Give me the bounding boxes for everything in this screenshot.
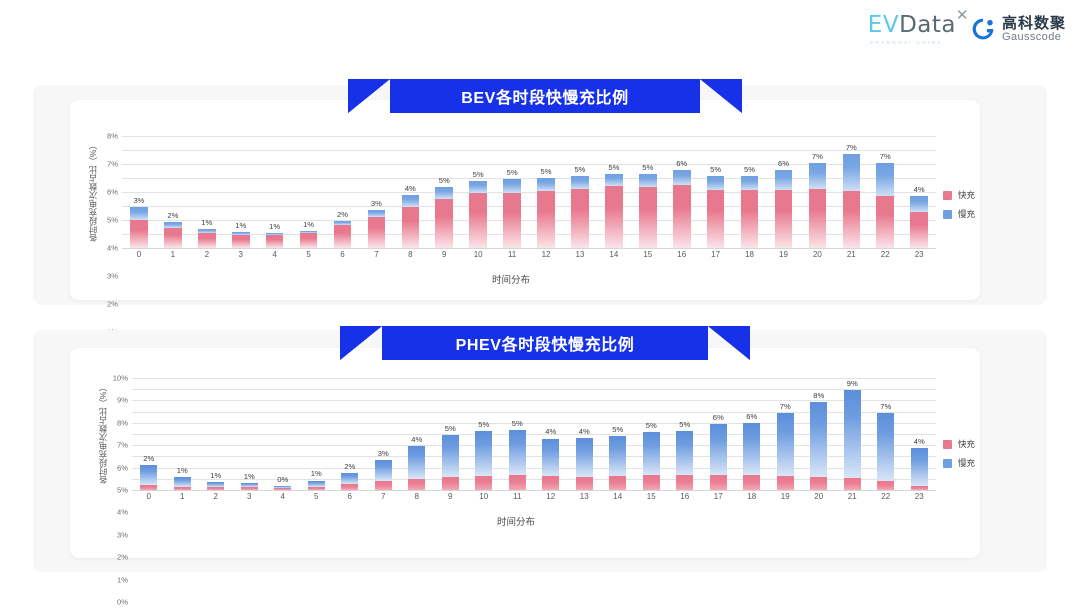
bar-column[interactable]: 4% <box>903 378 937 490</box>
bar-segment-slow-charge <box>571 176 589 189</box>
stacked-bar[interactable]: 5% <box>707 176 725 248</box>
bar-segment-fast-charge <box>232 235 250 248</box>
bar-segment-fast-charge <box>300 233 318 248</box>
bar-segment-slow-charge <box>375 460 392 481</box>
bar-segment-fast-charge <box>707 190 725 248</box>
bar-column[interactable]: 6% <box>665 136 699 248</box>
stacked-bar[interactable]: 4% <box>910 196 928 249</box>
bar-segment-slow-charge <box>676 431 693 476</box>
bar-column[interactable]: 3% <box>359 136 393 248</box>
stacked-bar[interactable]: 6% <box>775 170 793 248</box>
bar-column[interactable]: 5% <box>461 136 495 248</box>
bar-segment-fast-charge <box>809 189 827 248</box>
x-axis-tick-label: 19 <box>769 492 803 501</box>
x-axis-tick-label: 5 <box>300 492 334 501</box>
x-axis-tick-label: 17 <box>699 250 733 259</box>
x-axis-tick-label: 3 <box>233 492 267 501</box>
bar-column[interactable]: 5% <box>563 136 597 248</box>
stacked-bar[interactable]: 2% <box>341 473 358 490</box>
bar-segment-fast-charge <box>475 476 492 490</box>
phev-x-axis-ticks: 01234567891011121314151617181920212223 <box>132 492 936 501</box>
phev-legend: 快充 慢充 <box>943 438 975 469</box>
bar-value-label: 1% <box>210 471 221 480</box>
stacked-bar[interactable]: 3% <box>375 460 392 490</box>
bar-value-label: 0% <box>277 475 288 484</box>
bar-value-label: 1% <box>235 221 246 230</box>
bar-segment-fast-charge <box>207 487 224 490</box>
x-axis-tick-label: 20 <box>800 250 834 259</box>
stacked-bar[interactable]: 1% <box>300 231 318 249</box>
y-axis-tick-label: 7% <box>107 160 118 169</box>
x-axis-tick-label: 12 <box>529 250 563 259</box>
stacked-bar[interactable]: 4% <box>402 195 420 248</box>
bar-segment-slow-charge <box>910 196 928 213</box>
stacked-bar[interactable]: 5% <box>605 174 623 248</box>
stacked-bar[interactable]: 1% <box>308 480 325 490</box>
slow-charge-swatch-icon <box>943 210 952 219</box>
x-axis-tick-label: 5 <box>292 250 326 259</box>
bar-column[interactable]: 7% <box>868 136 902 248</box>
bar-column[interactable]: 6% <box>735 378 769 490</box>
bar-column[interactable]: 5% <box>501 378 535 490</box>
stacked-bar[interactable]: 1% <box>174 477 191 490</box>
bar-value-label: 5% <box>679 420 690 429</box>
bar-column[interactable]: 2% <box>132 378 166 490</box>
bar-column[interactable]: 4% <box>393 136 427 248</box>
stacked-bar[interactable]: 6% <box>743 423 760 490</box>
bar-segment-fast-charge <box>542 476 559 490</box>
bar-column[interactable]: 0% <box>266 378 300 490</box>
bar-segment-slow-charge <box>402 195 420 207</box>
y-axis-tick-label: 0% <box>117 598 128 607</box>
bar-column[interactable]: 4% <box>568 378 602 490</box>
bar-value-label: 5% <box>646 421 657 430</box>
y-axis-tick-label: 8% <box>117 418 128 427</box>
stacked-bar[interactable]: 1% <box>266 233 284 248</box>
bar-column[interactable]: 1% <box>233 378 267 490</box>
bar-value-label: 3% <box>371 199 382 208</box>
bar-segment-fast-charge <box>643 475 660 490</box>
bar-segment-slow-charge <box>844 390 861 478</box>
bar-segment-slow-charge <box>130 207 148 220</box>
x-axis-tick-label: 16 <box>665 250 699 259</box>
stacked-bar[interactable]: 7% <box>843 154 861 248</box>
bar-column[interactable]: 1% <box>224 136 258 248</box>
bar-segment-fast-charge <box>503 193 521 248</box>
stacked-bar[interactable]: 5% <box>537 178 555 248</box>
x-axis-tick-label: 21 <box>836 492 870 501</box>
stacked-bar[interactable]: 9% <box>844 390 861 490</box>
x-axis-tick-label: 13 <box>563 250 597 259</box>
bar-segment-fast-charge <box>775 190 793 248</box>
x-axis-tick-label: 9 <box>434 492 468 501</box>
bar-column[interactable]: 9% <box>836 378 870 490</box>
stacked-bar[interactable]: 5% <box>475 431 492 490</box>
stacked-bar[interactable]: 5% <box>509 430 526 490</box>
bar-value-label: 5% <box>507 168 518 177</box>
bar-column[interactable]: 7% <box>769 378 803 490</box>
y-axis-tick-label: 2% <box>107 300 118 309</box>
bar-segment-slow-charge <box>174 477 191 487</box>
stacked-bar[interactable]: 5% <box>643 432 660 490</box>
bar-segment-fast-charge <box>164 228 182 248</box>
bar-column[interactable]: 2% <box>156 136 190 248</box>
bar-segment-fast-charge <box>910 212 928 248</box>
bar-segment-fast-charge <box>241 487 258 490</box>
x-axis-tick-label: 11 <box>501 492 535 501</box>
stacked-bar[interactable]: 1% <box>207 482 224 490</box>
bar-value-label: 6% <box>713 413 724 422</box>
bar-value-label: 1% <box>201 218 212 227</box>
bar-value-label: 4% <box>914 185 925 194</box>
x-axis-tick-label: 20 <box>802 492 836 501</box>
bar-column[interactable]: 1% <box>166 378 200 490</box>
bar-value-label: 5% <box>439 176 450 185</box>
y-axis-tick-label: 6% <box>107 188 118 197</box>
bar-column[interactable]: 5% <box>668 378 702 490</box>
bar-column[interactable]: 3% <box>367 378 401 490</box>
bar-value-label: 7% <box>880 152 891 161</box>
x-axis-tick-label: 7 <box>367 492 401 501</box>
bar-segment-fast-charge <box>408 479 425 490</box>
bar-segment-slow-charge <box>710 424 727 476</box>
x-axis-tick-label: 13 <box>568 492 602 501</box>
stacked-bar[interactable]: 2% <box>140 465 157 490</box>
y-axis-tick-label: 5% <box>107 216 118 225</box>
bar-column[interactable]: 4% <box>400 378 434 490</box>
bar-value-label: 5% <box>608 163 619 172</box>
bar-value-label: 7% <box>846 143 857 152</box>
bar-segment-fast-charge <box>911 486 928 490</box>
x-axis-tick-label: 6 <box>333 492 367 501</box>
bar-value-label: 5% <box>478 420 489 429</box>
bev-y-axis-label: 各时段充电次数占比（%） <box>86 136 100 248</box>
bar-column[interactable]: 2% <box>326 136 360 248</box>
legend-item-slow-charge[interactable]: 慢充 <box>943 457 975 469</box>
bar-column[interactable]: 3% <box>122 136 156 248</box>
stacked-bar[interactable]: 7% <box>876 163 894 248</box>
bar-value-label: 7% <box>812 152 823 161</box>
stacked-bar[interactable]: 7% <box>809 163 827 248</box>
bar-value-label: 6% <box>676 159 687 168</box>
bev-bars: 3%2%1%1%1%1%2%3%4%5%5%5%5%5%5%5%6%5%5%6%… <box>122 136 936 248</box>
bar-segment-fast-charge <box>710 475 727 490</box>
bar-segment-fast-charge <box>435 199 453 248</box>
bar-column[interactable]: 5% <box>635 378 669 490</box>
bev-legend: 快充 慢充 <box>943 189 975 220</box>
bar-column[interactable]: 5% <box>427 136 461 248</box>
stacked-bar[interactable]: 3% <box>130 207 148 248</box>
bar-value-label: 5% <box>612 425 623 434</box>
bar-segment-slow-charge <box>809 163 827 190</box>
slow-charge-swatch-icon <box>943 459 952 468</box>
x-axis-tick-label: 10 <box>461 250 495 259</box>
bar-segment-fast-charge <box>402 207 420 248</box>
bar-segment-fast-charge <box>810 477 827 490</box>
bar-value-label: 7% <box>780 402 791 411</box>
x-axis-tick-label: 11 <box>495 250 529 259</box>
stacked-bar[interactable]: 5% <box>435 187 453 248</box>
x-axis-tick-label: 6 <box>326 250 360 259</box>
bev-chart: 各时段充电次数占比（%） 0%1%2%3%4%5%6%7%8% 3%2%1%1%… <box>86 136 936 296</box>
bar-segment-fast-charge <box>469 193 487 248</box>
bar-column[interactable]: 5% <box>597 136 631 248</box>
stacked-bar[interactable]: 5% <box>676 431 693 490</box>
stacked-bar[interactable]: 3% <box>368 210 386 249</box>
bar-segment-slow-charge <box>639 174 657 187</box>
bar-segment-slow-charge <box>775 170 793 190</box>
legend-item-slow-charge[interactable]: 慢充 <box>943 208 975 220</box>
bar-segment-fast-charge <box>266 235 284 248</box>
bar-segment-fast-charge <box>741 190 759 248</box>
stacked-bar[interactable]: 8% <box>810 402 827 490</box>
x-axis-tick-label: 2 <box>199 492 233 501</box>
x-axis-tick-label: 8 <box>393 250 427 259</box>
x-axis-tick-label: 3 <box>224 250 258 259</box>
bar-column[interactable]: 7% <box>834 136 868 248</box>
bar-value-label: 3% <box>378 449 389 458</box>
bar-segment-fast-charge <box>334 225 352 248</box>
y-axis-tick-label: 10% <box>113 374 128 383</box>
stacked-bar[interactable]: 4% <box>576 438 593 490</box>
bar-column[interactable]: 1% <box>190 136 224 248</box>
bar-value-label: 4% <box>411 435 422 444</box>
y-axis-tick-label: 9% <box>117 396 128 405</box>
slow-charge-label: 慢充 <box>958 457 975 469</box>
gausscode-text: 高科数聚 Gausscode <box>1002 16 1066 43</box>
evdata-x-icon: ✕ <box>956 8 969 23</box>
fast-charge-swatch-icon <box>943 440 952 449</box>
x-axis-tick-label: 4 <box>258 250 292 259</box>
stacked-bar[interactable]: 4% <box>408 446 425 490</box>
y-axis-tick-label: 6% <box>117 463 128 472</box>
bar-segment-slow-charge <box>435 187 453 199</box>
x-axis-tick-label: 2 <box>190 250 224 259</box>
phev-section-title-ribbon: PHEV各时段快慢充比例 <box>382 326 708 360</box>
slow-charge-label: 慢充 <box>958 208 975 220</box>
gausscode-mark-icon <box>970 16 996 42</box>
phev-y-axis-label: 各时段充电次数占比（%） <box>96 378 110 490</box>
bar-segment-fast-charge <box>843 191 861 248</box>
stacked-bar[interactable]: 5% <box>503 179 521 248</box>
bar-segment-slow-charge <box>609 436 626 476</box>
gridline: 0% <box>132 490 936 491</box>
stacked-bar[interactable]: 6% <box>673 170 691 248</box>
fast-charge-swatch-icon <box>943 191 952 200</box>
bar-value-label: 6% <box>746 412 757 421</box>
bar-segment-slow-charge <box>605 174 623 187</box>
bar-segment-slow-charge <box>843 154 861 190</box>
bar-column[interactable]: 6% <box>702 378 736 490</box>
gausscode-logo: 高科数聚 Gausscode <box>970 16 1066 43</box>
bar-column[interactable]: 4% <box>902 136 936 248</box>
bar-column[interactable]: 5% <box>631 136 665 248</box>
bar-value-label: 2% <box>167 211 178 220</box>
bar-segment-slow-charge <box>643 432 660 476</box>
stacked-bar[interactable]: 2% <box>334 221 352 248</box>
bar-value-label: 1% <box>177 466 188 475</box>
bar-value-label: 9% <box>847 379 858 388</box>
x-axis-tick-label: 22 <box>869 492 903 501</box>
bar-column[interactable]: 4% <box>534 378 568 490</box>
bar-column[interactable]: 6% <box>767 136 801 248</box>
x-axis-tick-label: 1 <box>166 492 200 501</box>
bar-segment-fast-charge <box>341 484 358 490</box>
phev-x-axis-label: 时间分布 <box>96 514 936 528</box>
bar-segment-fast-charge <box>140 485 157 490</box>
stacked-bar[interactable]: 5% <box>571 176 589 248</box>
bar-segment-fast-charge <box>571 189 589 248</box>
bev-section-title: BEV各时段快慢充比例 <box>461 84 629 108</box>
bar-segment-slow-charge <box>503 179 521 193</box>
bar-segment-fast-charge <box>274 488 291 490</box>
evdata-tagline: SHANGHAI CHINA <box>870 40 943 45</box>
bar-column[interactable]: 2% <box>333 378 367 490</box>
stacked-bar[interactable]: 1% <box>232 232 250 248</box>
x-axis-tick-label: 16 <box>668 492 702 501</box>
stacked-bar[interactable]: 7% <box>877 413 894 490</box>
bar-column[interactable]: 8% <box>802 378 836 490</box>
x-axis-tick-label: 17 <box>702 492 736 501</box>
x-axis-tick-label: 12 <box>534 492 568 501</box>
x-axis-tick-label: 23 <box>903 492 937 501</box>
bar-column[interactable]: 7% <box>800 136 834 248</box>
stacked-bar[interactable]: 6% <box>710 424 727 490</box>
bar-segment-fast-charge <box>576 477 593 490</box>
x-axis-tick-label: 23 <box>902 250 936 259</box>
bar-column[interactable]: 7% <box>869 378 903 490</box>
bar-segment-fast-charge <box>877 481 894 490</box>
bar-segment-fast-charge <box>368 217 386 248</box>
bar-segment-fast-charge <box>174 487 191 490</box>
bar-column[interactable]: 5% <box>495 136 529 248</box>
phev-section-title: PHEV各时段快慢充比例 <box>456 331 635 355</box>
bar-segment-fast-charge <box>844 478 861 490</box>
gridline: 0% <box>122 248 936 249</box>
bar-column[interactable]: 1% <box>199 378 233 490</box>
bev-x-axis-ticks: 01234567891011121314151617181920212223 <box>122 250 936 259</box>
stacked-bar[interactable]: 7% <box>777 413 794 490</box>
x-axis-tick-label: 18 <box>733 250 767 259</box>
bar-column[interactable]: 5% <box>733 136 767 248</box>
bar-segment-fast-charge <box>609 476 626 490</box>
stacked-bar[interactable]: 5% <box>609 436 626 490</box>
stacked-bar[interactable]: 4% <box>911 448 928 490</box>
stacked-bar[interactable]: 0% <box>274 486 291 490</box>
bar-value-label: 4% <box>545 427 556 436</box>
bar-value-label: 5% <box>574 165 585 174</box>
bar-value-label: 1% <box>311 469 322 478</box>
bar-value-label: 4% <box>579 427 590 436</box>
bar-value-label: 5% <box>445 424 456 433</box>
bar-value-label: 5% <box>541 167 552 176</box>
bar-segment-slow-charge <box>707 176 725 190</box>
x-axis-tick-label: 15 <box>635 492 669 501</box>
bar-column[interactable]: 1% <box>300 378 334 490</box>
bar-segment-slow-charge <box>341 473 358 484</box>
bar-segment-slow-charge <box>509 430 526 476</box>
legend-item-fast-charge[interactable]: 快充 <box>943 189 975 201</box>
x-axis-tick-label: 8 <box>400 492 434 501</box>
bar-segment-slow-charge <box>542 439 559 477</box>
bar-segment-fast-charge <box>442 477 459 490</box>
phev-chart: 各时段充电次数占比（%） 0%1%2%3%4%5%6%7%8%9%10% 2%1… <box>96 378 936 550</box>
stacked-bar[interactable]: 5% <box>639 174 657 248</box>
bar-value-label: 5% <box>473 170 484 179</box>
legend-item-fast-charge[interactable]: 快充 <box>943 438 975 450</box>
x-axis-tick-label: 7 <box>359 250 393 259</box>
evdata-ev-text: EV <box>868 12 899 38</box>
stacked-bar[interactable]: 2% <box>164 222 182 248</box>
bar-value-label: 1% <box>303 220 314 229</box>
y-axis-tick-label: 4% <box>107 244 118 253</box>
bar-value-label: 1% <box>269 222 280 231</box>
gausscode-en-name: Gausscode <box>1002 32 1066 44</box>
bar-segment-fast-charge <box>743 475 760 490</box>
bar-value-label: 8% <box>813 391 824 400</box>
phev-plot-area: 0%1%2%3%4%5%6%7%8%9%10% 2%1%1%1%0%1%2%3%… <box>132 378 936 490</box>
stacked-bar[interactable]: 5% <box>442 435 459 490</box>
bar-column[interactable]: 5% <box>601 378 635 490</box>
stacked-bar[interactable]: 5% <box>741 176 759 248</box>
x-axis-tick-label: 4 <box>266 492 300 501</box>
bar-value-label: 5% <box>710 165 721 174</box>
x-axis-tick-label: 0 <box>132 492 166 501</box>
x-axis-tick-label: 9 <box>427 250 461 259</box>
bar-column[interactable]: 5% <box>434 378 468 490</box>
bar-segment-slow-charge <box>368 210 386 218</box>
y-axis-tick-label: 5% <box>117 486 128 495</box>
x-axis-tick-label: 0 <box>122 250 156 259</box>
bar-value-label: 7% <box>880 402 891 411</box>
bar-value-label: 2% <box>143 454 154 463</box>
y-axis-tick-label: 7% <box>117 441 128 450</box>
bar-segment-slow-charge <box>777 413 794 476</box>
bar-segment-fast-charge <box>673 185 691 248</box>
stacked-bar[interactable]: 5% <box>469 181 487 248</box>
bar-segment-fast-charge <box>308 487 325 490</box>
x-axis-tick-label: 18 <box>735 492 769 501</box>
bar-segment-slow-charge <box>741 176 759 190</box>
bar-segment-fast-charge <box>375 481 392 490</box>
bar-column[interactable]: 5% <box>529 136 563 248</box>
gausscode-cn-name: 高科数聚 <box>1002 16 1066 32</box>
bar-segment-slow-charge <box>140 465 157 485</box>
bar-value-label: 5% <box>642 163 653 172</box>
stacked-bar[interactable]: 1% <box>198 229 216 248</box>
phev-bars: 2%1%1%1%0%1%2%3%4%5%5%5%4%4%5%5%5%6%6%7%… <box>132 378 936 490</box>
bar-value-label: 5% <box>744 165 755 174</box>
bev-x-axis-label: 时间分布 <box>86 272 936 286</box>
bar-column[interactable]: 5% <box>699 136 733 248</box>
y-axis-tick-label: 1% <box>117 575 128 584</box>
bar-segment-fast-charge <box>876 196 894 248</box>
bar-column[interactable]: 5% <box>467 378 501 490</box>
bar-segment-fast-charge <box>130 220 148 248</box>
stacked-bar[interactable]: 1% <box>241 483 258 490</box>
bar-value-label: 2% <box>337 210 348 219</box>
bar-segment-slow-charge <box>876 163 894 196</box>
x-axis-tick-label: 10 <box>467 492 501 501</box>
stacked-bar[interactable]: 4% <box>542 438 559 490</box>
y-axis-tick-label: 2% <box>117 553 128 562</box>
bar-segment-fast-charge <box>537 191 555 248</box>
bar-column[interactable]: 1% <box>292 136 326 248</box>
bar-segment-fast-charge <box>777 476 794 490</box>
bar-segment-slow-charge <box>877 413 894 481</box>
bar-column[interactable]: 1% <box>258 136 292 248</box>
evdata-logo: EVData✕ SHANGHAI CHINA <box>868 14 956 45</box>
